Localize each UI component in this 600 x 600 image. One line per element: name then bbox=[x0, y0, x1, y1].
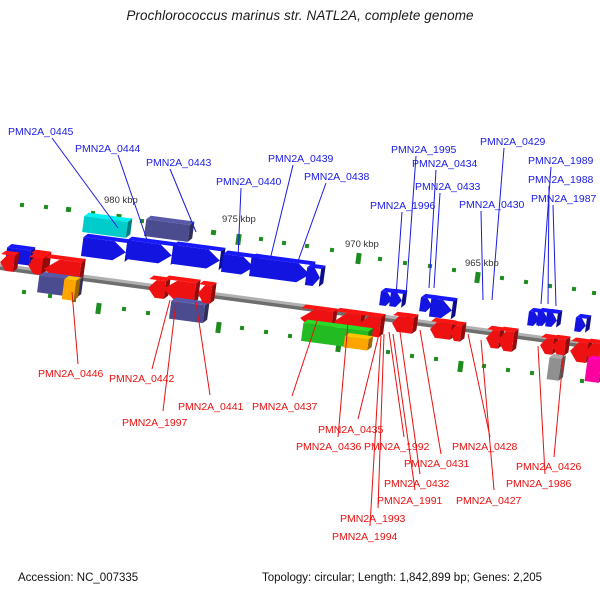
gene-label-forward[interactable]: PMN2A_0439 bbox=[268, 153, 333, 165]
gene-label-reverse[interactable]: PMN2A_1991 bbox=[377, 495, 442, 507]
rna-tick bbox=[506, 368, 510, 372]
rna-tick bbox=[122, 307, 126, 311]
gene-feature-reverse[interactable] bbox=[497, 326, 519, 352]
gene-label-reverse[interactable]: PMN2A_0431 bbox=[404, 458, 469, 470]
gene-feature-reverse[interactable] bbox=[62, 275, 81, 301]
gene-feature-forward[interactable] bbox=[305, 263, 326, 287]
rna-tick bbox=[378, 257, 382, 261]
gene-label-reverse[interactable]: PMN2A_1992 bbox=[364, 441, 429, 453]
rna-tick bbox=[457, 361, 463, 373]
rna-tick bbox=[434, 357, 438, 361]
gene-label-reverse[interactable]: PMN2A_0435 bbox=[318, 424, 383, 436]
gene-label-forward[interactable]: PMN2A_0430 bbox=[459, 199, 524, 211]
label-leader-line bbox=[152, 300, 170, 369]
gene-label-forward[interactable]: PMN2A_0433 bbox=[415, 181, 480, 193]
rna-tick bbox=[288, 334, 292, 338]
gene-label-forward[interactable]: PMN2A_1996 bbox=[370, 200, 435, 212]
label-leader-line bbox=[420, 330, 441, 454]
gene-label-forward[interactable]: PMN2A_0438 bbox=[304, 171, 369, 183]
gene-label-reverse[interactable]: PMN2A_0426 bbox=[516, 461, 581, 473]
rna-tick bbox=[95, 303, 101, 315]
gene-label-forward[interactable]: PMN2A_1987 bbox=[531, 193, 596, 205]
rna-tick bbox=[66, 207, 72, 213]
rna-tick bbox=[386, 350, 390, 354]
rna-tick bbox=[580, 379, 584, 383]
label-leader-line bbox=[297, 183, 326, 264]
label-leader-line bbox=[553, 205, 556, 306]
gene-feature-forward[interactable] bbox=[171, 241, 226, 271]
rna-tick bbox=[410, 354, 414, 358]
rna-tick bbox=[259, 237, 263, 241]
gene-label-reverse[interactable]: PMN2A_1994 bbox=[332, 531, 397, 543]
rna-tick bbox=[524, 280, 528, 284]
rna-tick bbox=[403, 261, 407, 265]
gene-label-forward[interactable]: PMN2A_1995 bbox=[391, 144, 456, 156]
gene-label-reverse[interactable]: PMN2A_0437 bbox=[252, 401, 317, 413]
label-leader-line bbox=[468, 334, 490, 437]
genome-map-canvas[interactable] bbox=[0, 0, 600, 600]
gene-label-forward[interactable]: PMN2A_0444 bbox=[75, 143, 140, 155]
label-leader-line bbox=[541, 167, 551, 304]
gene-label-forward[interactable]: PMN2A_0445 bbox=[8, 126, 73, 138]
rna-tick bbox=[264, 330, 268, 334]
gene-label-reverse[interactable]: PMN2A_0442 bbox=[109, 373, 174, 385]
label-leader-line bbox=[396, 212, 402, 296]
gene-label-forward[interactable]: PMN2A_1988 bbox=[528, 174, 593, 186]
rna-tick bbox=[44, 205, 48, 209]
gene-label-forward[interactable]: PMN2A_0443 bbox=[146, 157, 211, 169]
rna-tick bbox=[482, 364, 486, 368]
gene-label-reverse[interactable]: PMN2A_0436 bbox=[296, 441, 361, 453]
gene-label-reverse[interactable]: PMN2A_0446 bbox=[38, 368, 103, 380]
label-leader-line bbox=[406, 156, 416, 296]
gene-label-forward[interactable]: PMN2A_0434 bbox=[412, 158, 477, 170]
rna-tick bbox=[452, 268, 456, 272]
status-bar: Accession: NC_007335 Topology: circular;… bbox=[0, 572, 600, 592]
accession-text: Accession: NC_007335 bbox=[18, 572, 138, 584]
rna-tick bbox=[146, 311, 150, 315]
gene-feature-forward[interactable] bbox=[429, 295, 458, 320]
rna-tick bbox=[240, 326, 244, 330]
rna-tick bbox=[500, 276, 504, 280]
rna-tick bbox=[20, 203, 24, 207]
rna-tick bbox=[355, 253, 361, 265]
rna-tick bbox=[215, 322, 221, 334]
gene-feature-forward[interactable] bbox=[249, 253, 315, 284]
rna-tick bbox=[530, 371, 534, 375]
gene-label-forward[interactable]: PMN2A_1989 bbox=[528, 155, 593, 167]
gene-features-forward-strand[interactable] bbox=[5, 212, 591, 333]
rna-tick bbox=[305, 244, 309, 248]
gene-label-forward[interactable]: PMN2A_0429 bbox=[480, 136, 545, 148]
gene-feature-forward[interactable] bbox=[144, 215, 194, 242]
rna-tick bbox=[48, 294, 52, 298]
gene-label-forward[interactable]: PMN2A_0440 bbox=[216, 176, 281, 188]
rna-tick bbox=[330, 248, 334, 252]
label-leader-line bbox=[72, 292, 78, 364]
ruler-tick-label: 970 kbp bbox=[345, 239, 379, 250]
genome-stats-text: Topology: circular; Length: 1,842,899 bp… bbox=[262, 572, 542, 584]
gene-label-reverse[interactable]: PMN2A_0428 bbox=[452, 441, 517, 453]
label-leader-line bbox=[481, 340, 494, 490]
rna-tick bbox=[474, 272, 480, 284]
ruler-tick-label: 965 kbp bbox=[465, 258, 499, 269]
gene-label-reverse[interactable]: PMN2A_0427 bbox=[456, 495, 521, 507]
gene-label-reverse[interactable]: PMN2A_1997 bbox=[122, 417, 187, 429]
ruler-tick-label: 980 kbp bbox=[104, 195, 138, 206]
ruler-tick-label: 975 kbp bbox=[222, 214, 256, 225]
rna-tick bbox=[282, 241, 286, 245]
gene-feature-forward[interactable] bbox=[574, 313, 591, 333]
rna-tick bbox=[572, 287, 576, 291]
gene-label-reverse[interactable]: PMN2A_0441 bbox=[178, 401, 243, 413]
label-leader-line bbox=[481, 211, 483, 300]
gene-label-reverse[interactable]: PMN2A_1986 bbox=[506, 478, 571, 490]
gene-label-reverse[interactable]: PMN2A_1993 bbox=[340, 513, 405, 525]
rna-tick bbox=[211, 230, 217, 236]
gene-feature-forward[interactable] bbox=[125, 236, 178, 265]
rna-tick bbox=[22, 290, 26, 294]
label-leader-line bbox=[538, 346, 545, 474]
gene-label-reverse[interactable]: PMN2A_0432 bbox=[384, 478, 449, 490]
rna-tick bbox=[592, 291, 596, 295]
